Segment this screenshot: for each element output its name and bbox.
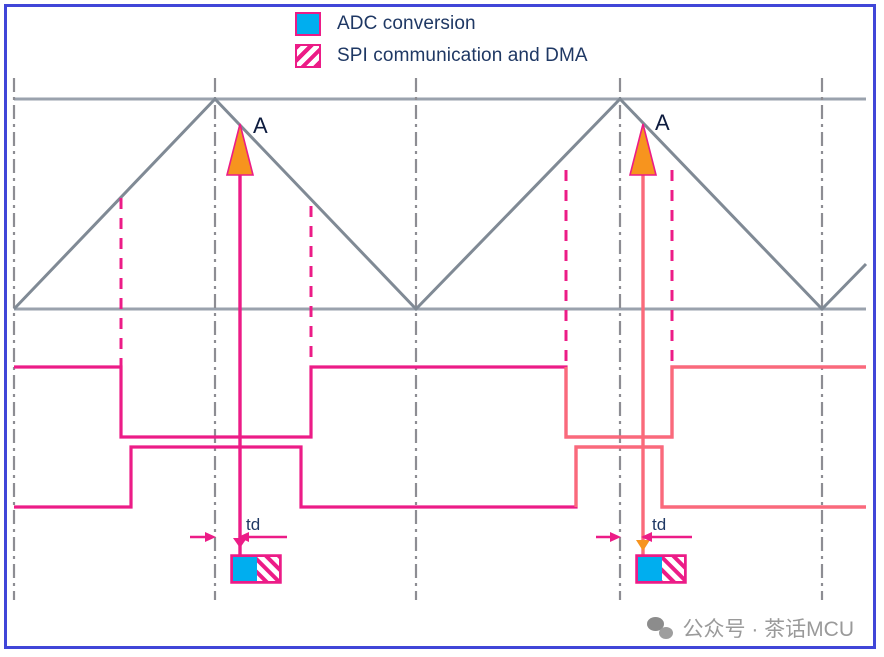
pwm-lower-waveform	[14, 447, 866, 507]
legend-item-spi: SPI communication and DMA	[295, 40, 715, 72]
adc-trigger-arrow-1	[227, 124, 253, 556]
adc-conversion-block	[638, 557, 662, 581]
pwm-timing-chart	[0, 0, 884, 657]
task-box-1	[232, 556, 280, 582]
legend: ADC conversion SPI communication and DMA	[295, 8, 715, 72]
legend-label-spi: SPI communication and DMA	[337, 45, 588, 67]
task-box-2	[637, 556, 685, 582]
wechat-icon	[647, 617, 673, 639]
arrow-label-a-2: A	[655, 110, 670, 136]
spi-dma-block	[257, 557, 279, 581]
watermark: 公众号 · 茶话MCU	[647, 613, 855, 643]
diagram-root: ADC conversion SPI communication and DMA…	[0, 0, 884, 657]
adc-conversion-block	[233, 557, 257, 581]
legend-item-adc: ADC conversion	[295, 8, 715, 40]
arrow-label-a-1: A	[253, 113, 268, 139]
carrier-reference-lines	[14, 99, 866, 309]
legend-label-adc: ADC conversion	[337, 13, 476, 35]
td-label-1: td	[246, 515, 260, 535]
adc-trigger-arrow-2	[630, 124, 656, 556]
pwm-upper-waveform	[14, 367, 866, 437]
triangular-carrier-wave	[14, 99, 866, 309]
watermark-text: 公众号 · 茶话MCU	[683, 613, 855, 643]
spi-hatch-swatch-icon	[295, 44, 321, 68]
adc-swatch-icon	[295, 12, 321, 36]
td-label-2: td	[652, 515, 666, 535]
spi-dma-block	[662, 557, 684, 581]
gridline-dashdot-group	[14, 78, 822, 600]
